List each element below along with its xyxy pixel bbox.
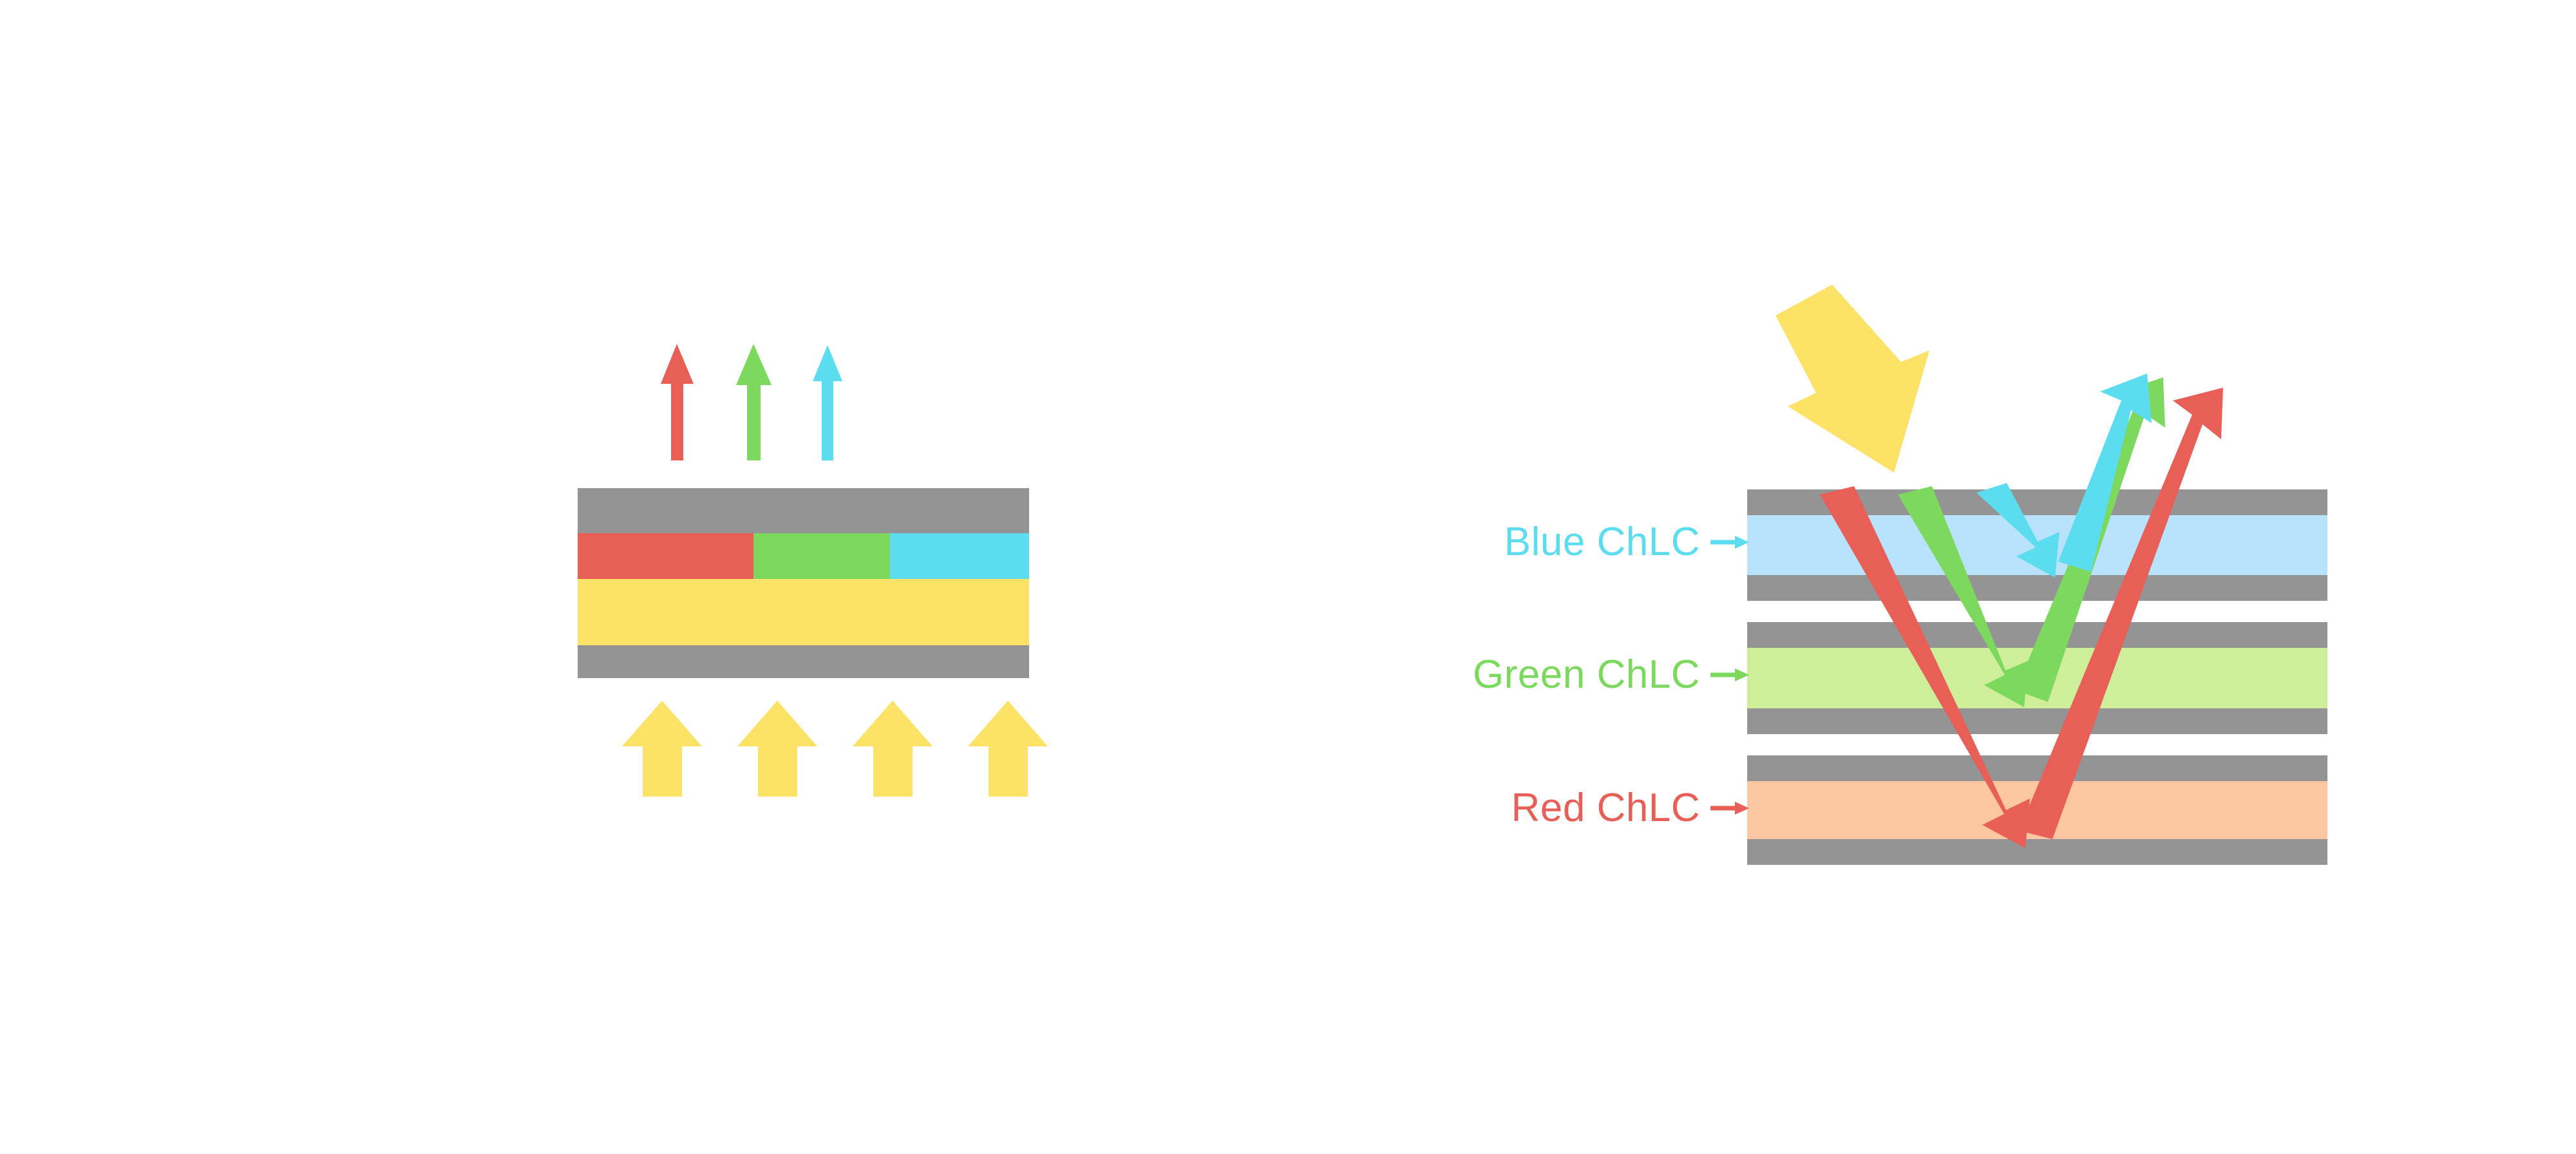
backlight-arrow [737, 701, 817, 797]
top-gray-electrode [578, 488, 1029, 533]
blue-chlc-label: Blue ChLC [1504, 520, 1700, 564]
yellow-backlight-arrows [622, 701, 1048, 797]
red-cell-bottom-gray [1747, 839, 2327, 865]
cyan-emission-arrow [813, 345, 842, 460]
chlc-display-diagram: Blue ChLC Green ChLC Red ChLC [0, 0, 2576, 1154]
yellow-backlight-layer [578, 579, 1029, 645]
white-light-incident-arrow [1776, 285, 1929, 473]
right-panel-group: Blue ChLC Green ChLC Red ChLC [1473, 285, 2327, 865]
green-cell-bottom-gray [1747, 708, 2327, 734]
green-chlc-label: Green ChLC [1473, 652, 1700, 697]
bottom-gray-electrode [578, 645, 1029, 678]
green-label-arrow-icon [1710, 668, 1749, 681]
blue-cell-bottom-gray [1747, 575, 2327, 601]
red-filter-segment [578, 533, 753, 579]
red-emission-arrow [661, 344, 694, 460]
red-cell-top-gray [1747, 755, 2327, 781]
green-emission-arrow [736, 344, 772, 460]
backlight-arrow [968, 701, 1048, 797]
cyan-filter-segment [890, 533, 1029, 579]
red-chlc-label: Red ChLC [1511, 786, 1700, 830]
blue-label-arrow-icon [1710, 536, 1749, 549]
diagram-canvas: Blue ChLC Green ChLC Red ChLC [0, 0, 2576, 1154]
red-label-arrow-icon [1710, 802, 1749, 815]
backlight-arrow [622, 701, 702, 797]
left-panel-group [578, 344, 1048, 797]
green-filter-segment [753, 533, 890, 579]
backlight-arrow [853, 701, 933, 797]
